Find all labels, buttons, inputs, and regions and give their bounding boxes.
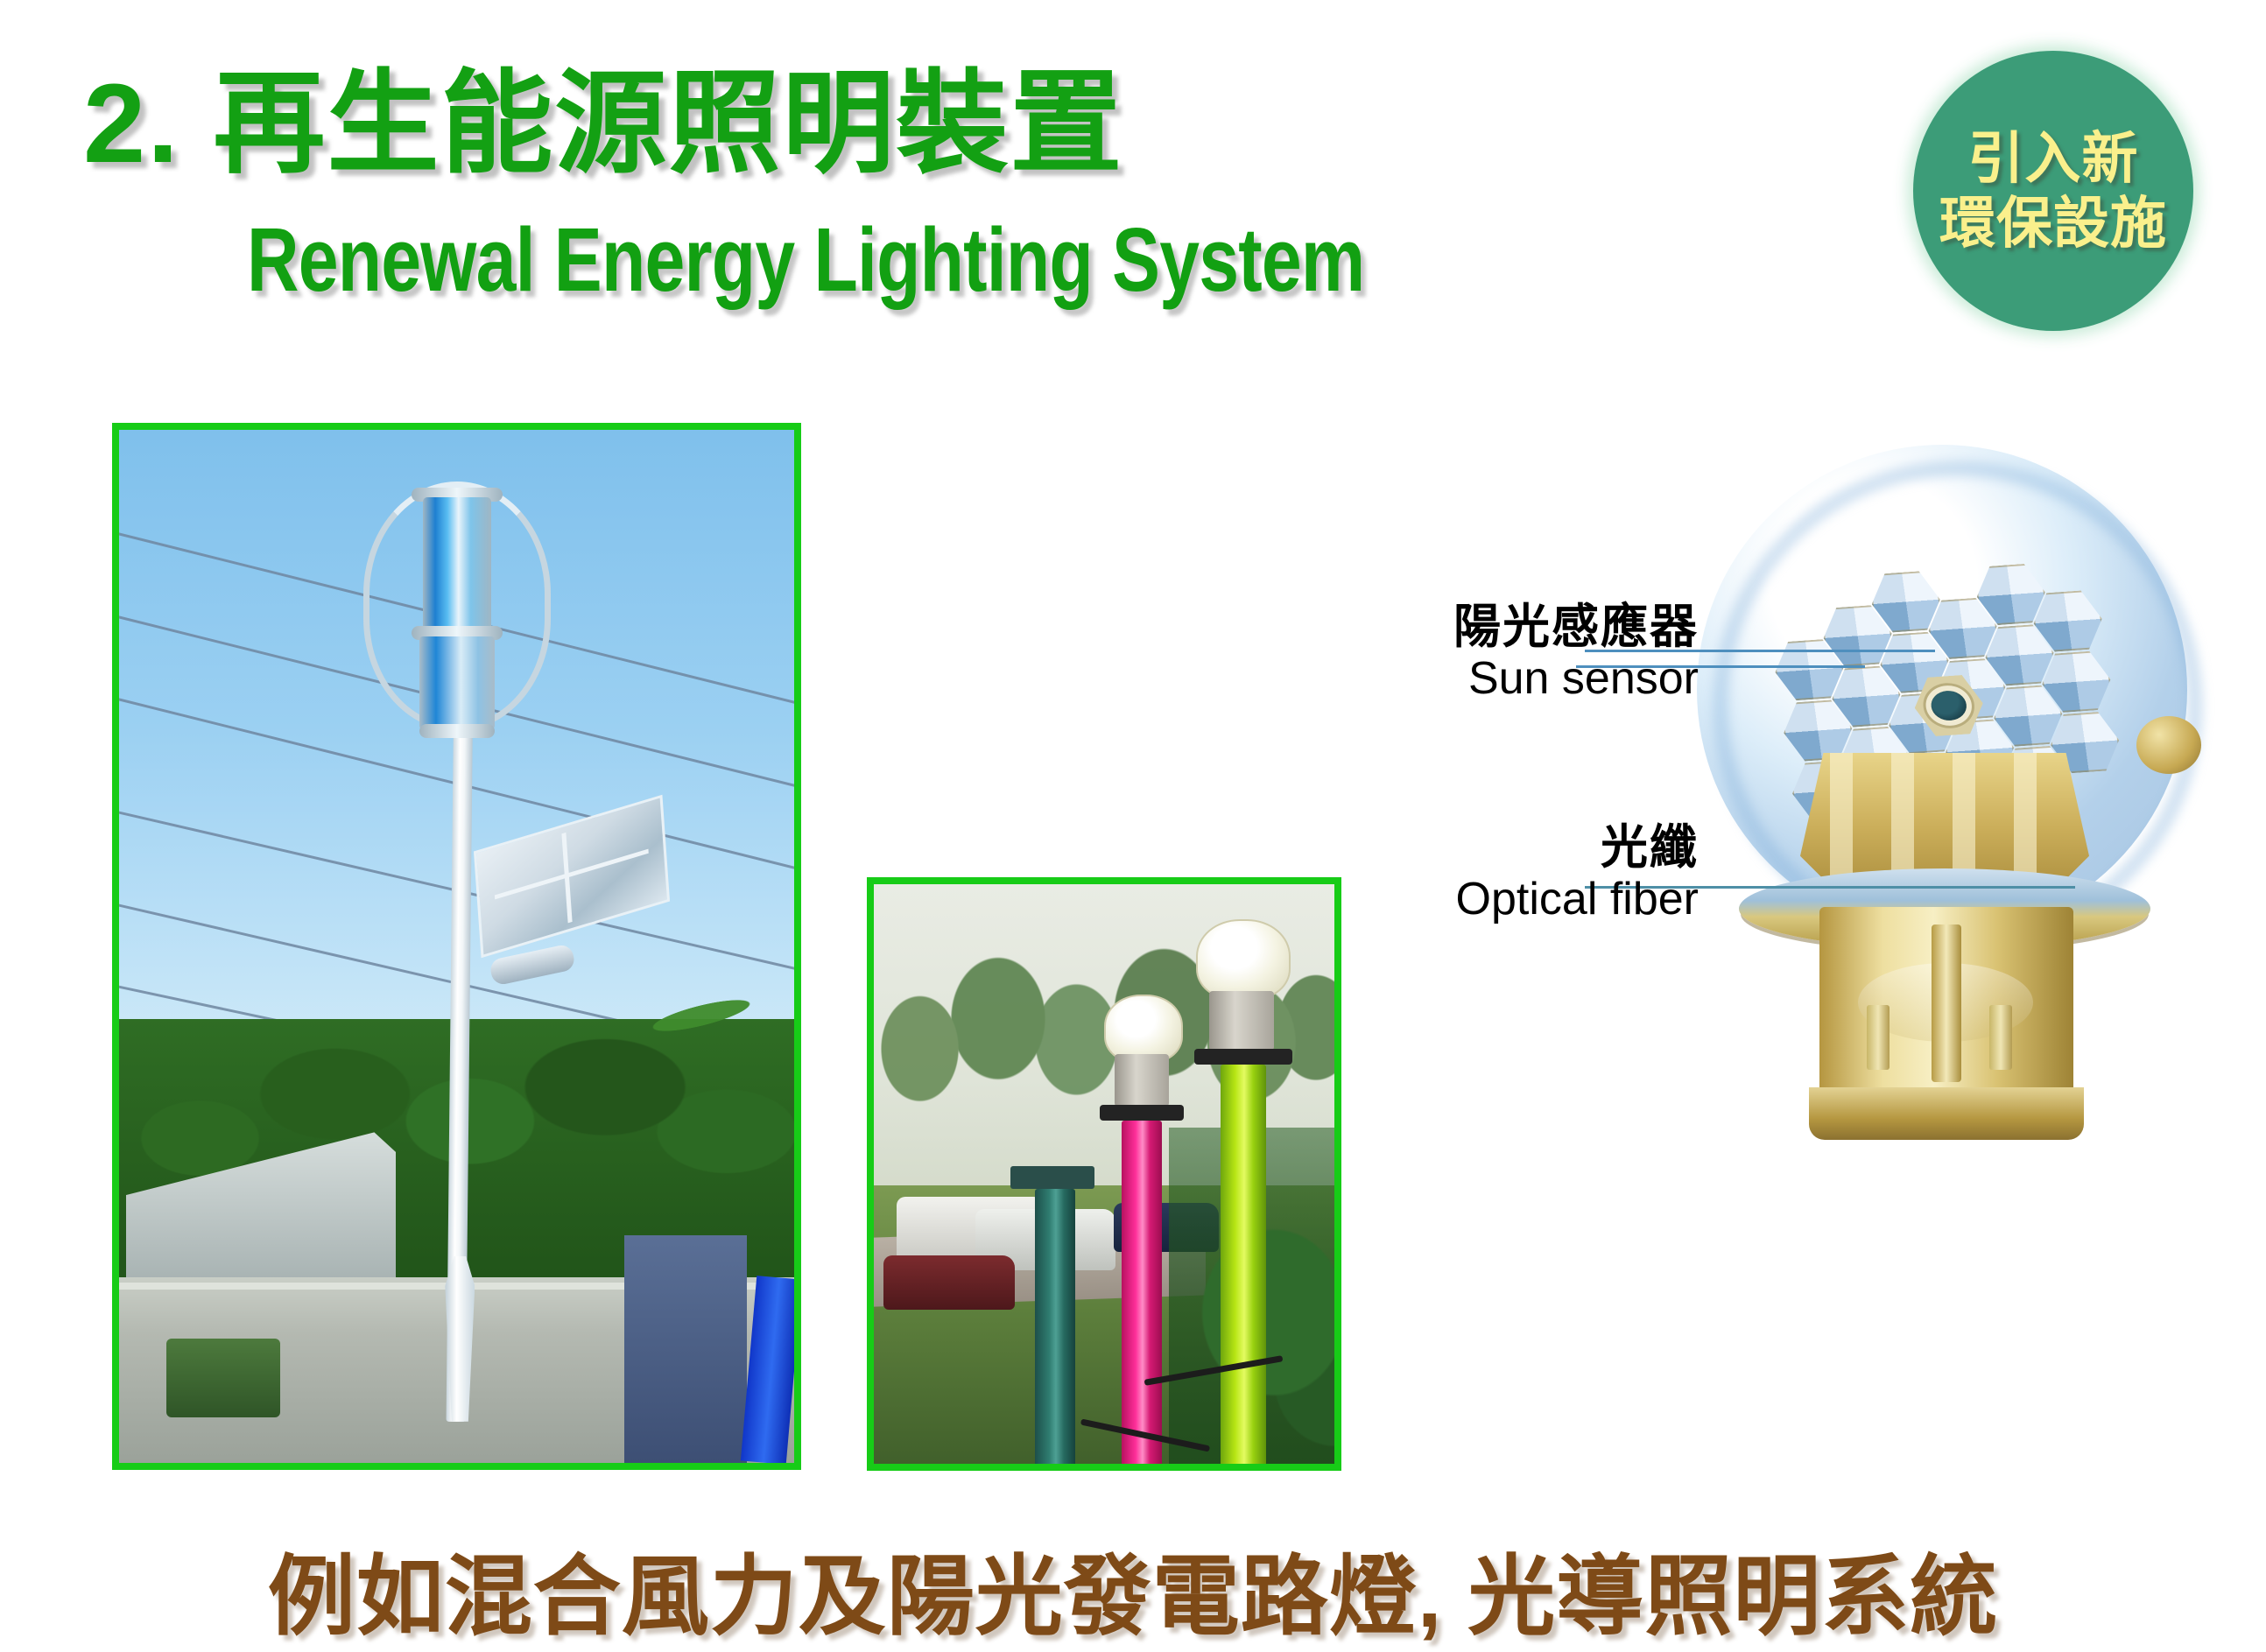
status-badge-new-green-facility: 引入新 環保設施 bbox=[1913, 51, 2193, 331]
photo-2-content bbox=[874, 884, 1334, 1464]
lamp-socket bbox=[1115, 1054, 1169, 1107]
photo-1-content bbox=[119, 430, 794, 1463]
callout-sun-sensor-en: Sun sensor bbox=[1208, 653, 1699, 704]
callout-sun-sensor: 陽光感應器 Sun sensor bbox=[1208, 601, 1699, 705]
pivot-knob bbox=[2136, 716, 2201, 774]
bottom-caption: 例如混合風力及陽光發電路燈, 光導照明系統 bbox=[0, 1525, 2266, 1652]
lamp-post bbox=[1221, 1065, 1266, 1464]
lamp-cap bbox=[1010, 1166, 1094, 1189]
callout-optical-fiber: 光纖 Optical fiber bbox=[1243, 821, 1699, 925]
optical-fiber-stub bbox=[1989, 1005, 2012, 1070]
turbine-bottom-cap bbox=[419, 724, 495, 738]
title-zh: 再生能源照明裝置 bbox=[213, 61, 1123, 186]
turbine-rotor-lower bbox=[419, 636, 495, 729]
panel-bar bbox=[494, 849, 648, 900]
photo-wind-turbine-street-light bbox=[112, 423, 801, 1470]
badge-line-2: 環保設施 bbox=[1939, 191, 2167, 256]
blue-pillar bbox=[624, 1235, 747, 1463]
diagram-sun-collector bbox=[1629, 438, 2241, 1182]
callout-sun-sensor-zh: 陽光感應器 bbox=[1208, 601, 1699, 653]
lamp-collar bbox=[1194, 1049, 1292, 1065]
lamp-collar bbox=[1100, 1105, 1184, 1121]
badge-line-1: 引入新 bbox=[1968, 126, 2139, 191]
page-subtitle: Renewal Energy Lighting System bbox=[247, 214, 1364, 305]
lamp-post bbox=[1035, 1189, 1075, 1464]
page-title: 2. 再生能源照明裝置 bbox=[83, 68, 1123, 180]
optical-fiber-stub bbox=[1867, 1005, 1890, 1070]
green-bin bbox=[166, 1339, 280, 1417]
housing-base bbox=[1809, 1087, 2084, 1140]
parked-car bbox=[883, 1255, 1015, 1310]
callout-optical-fiber-zh: 光纖 bbox=[1243, 821, 1699, 874]
callout-optical-fiber-en: Optical fiber bbox=[1243, 874, 1699, 924]
photo-led-garden-lamps bbox=[867, 877, 1341, 1471]
lamp-socket bbox=[1209, 991, 1274, 1051]
led-bulb bbox=[1104, 995, 1183, 1063]
led-bulb bbox=[1196, 919, 1291, 1000]
lamp-post bbox=[1122, 1121, 1162, 1464]
title-number: 2. bbox=[83, 61, 180, 186]
central-shaft bbox=[1932, 924, 1961, 1082]
